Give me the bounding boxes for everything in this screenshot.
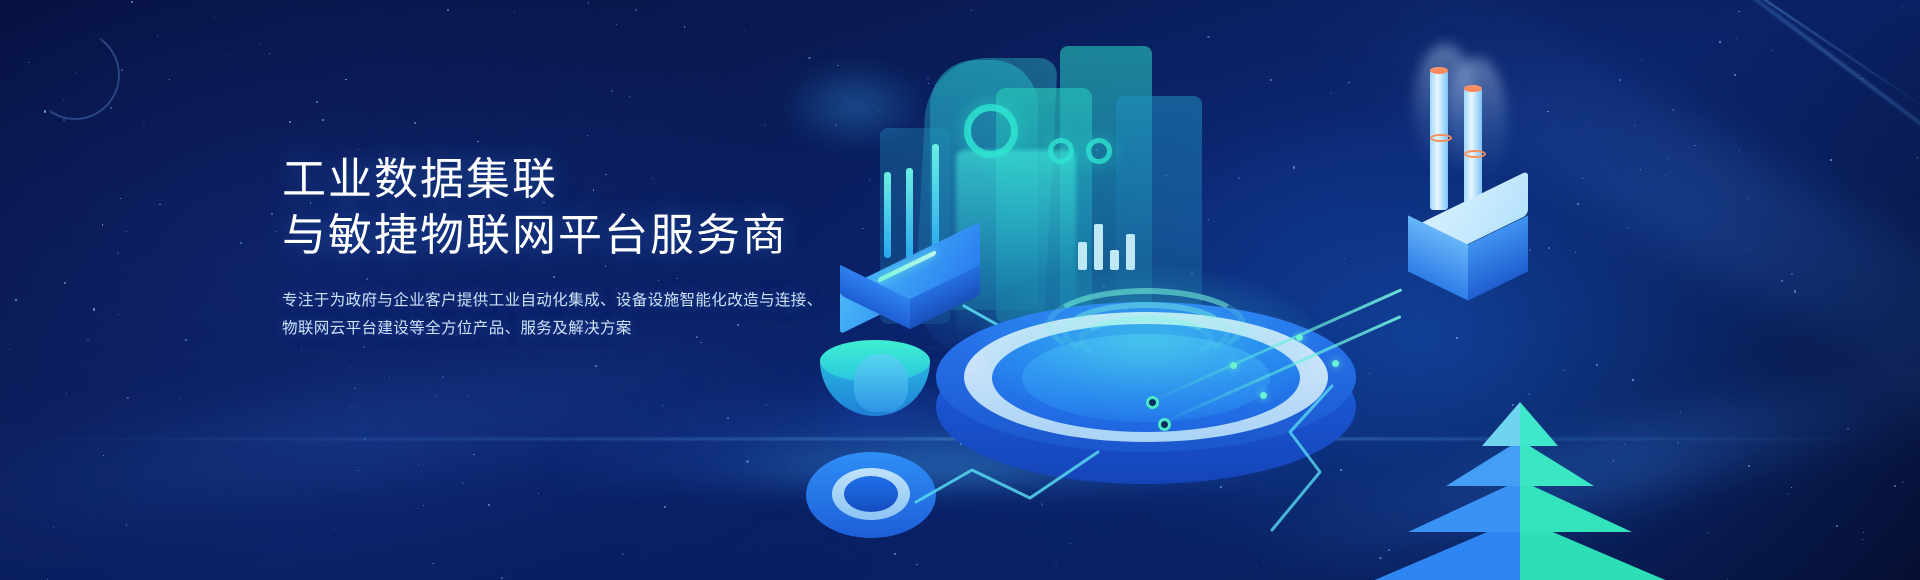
platform-arc-3 — [1078, 316, 1214, 364]
star — [93, 308, 95, 310]
star — [462, 492, 463, 493]
star — [514, 11, 515, 12]
base-ring-core — [844, 476, 898, 512]
data-beam-dot-2 — [1296, 334, 1303, 341]
star — [351, 406, 353, 408]
star — [110, 107, 112, 109]
star — [185, 339, 187, 341]
base-ring — [806, 452, 936, 538]
star — [120, 198, 121, 199]
star — [15, 299, 16, 300]
star — [358, 149, 359, 150]
star — [428, 384, 429, 385]
star — [269, 53, 270, 54]
data-beam-dot-3 — [1260, 392, 1267, 399]
crescent-arc-decor — [30, 30, 120, 120]
star — [180, 399, 181, 400]
star — [143, 125, 145, 127]
star — [468, 395, 469, 396]
data-beam-dot-4 — [1332, 360, 1339, 367]
star — [214, 17, 215, 18]
star — [351, 367, 352, 368]
smokestack-1-band — [1430, 134, 1452, 142]
star — [616, 24, 617, 25]
star — [102, 224, 104, 226]
router-glow — [780, 60, 930, 150]
layered-pyramid — [1370, 392, 1670, 580]
star — [29, 105, 30, 106]
star — [322, 119, 324, 121]
star — [389, 377, 390, 378]
star — [240, 242, 242, 244]
star — [301, 348, 302, 349]
smokestack-1-cap — [1430, 67, 1448, 74]
hero-text-block: 工业数据集联 与敏捷物联网平台服务商 专注于为政府与企业客户提供工业自动化集成、… — [282, 152, 922, 344]
router-antenna-3 — [932, 144, 939, 256]
star — [345, 79, 347, 81]
smokestack-2-band — [1464, 150, 1486, 158]
star — [473, 454, 475, 456]
hero-banner: 工业数据集联 与敏捷物联网平台服务商 专注于为政府与企业客户提供工业自动化集成、… — [0, 0, 1920, 580]
star — [622, 553, 624, 555]
star — [635, 9, 637, 11]
star — [126, 524, 128, 526]
tower-port-ring-icon — [964, 104, 1018, 158]
star — [289, 121, 291, 123]
cup-notch — [854, 354, 908, 412]
star — [47, 579, 48, 580]
pyramid-tier-2 — [1446, 440, 1594, 486]
headline-line-1: 工业数据集联 — [282, 152, 922, 208]
star — [509, 575, 511, 577]
star — [66, 393, 67, 394]
star — [157, 35, 158, 36]
star — [64, 282, 66, 284]
star — [226, 54, 227, 55]
storage-cup — [820, 340, 930, 430]
star — [63, 119, 65, 121]
star — [744, 30, 745, 31]
star — [462, 482, 464, 484]
star — [432, 563, 434, 565]
star — [589, 34, 591, 36]
star — [684, 26, 686, 28]
star — [275, 231, 277, 233]
star — [435, 395, 436, 396]
central-data-platform — [936, 286, 1356, 506]
star — [629, 96, 630, 97]
star — [126, 231, 127, 232]
star — [87, 339, 89, 341]
star — [447, 9, 449, 11]
star — [44, 110, 46, 112]
star — [538, 493, 539, 494]
star — [418, 464, 420, 466]
factory-smokestacks — [1408, 200, 1528, 310]
star — [334, 528, 335, 529]
data-beam-node-2 — [1158, 418, 1171, 431]
star — [354, 388, 356, 390]
star — [363, 346, 365, 348]
star — [169, 79, 170, 80]
star — [414, 122, 416, 124]
subtitle-line-1: 专注于为政府与企业客户提供工业自动化集成、设备设施智能化改造与连接、 — [282, 287, 922, 316]
star — [131, 1, 133, 3]
tower-port-ring-small2-icon — [1086, 138, 1112, 164]
star — [588, 2, 589, 3]
tower-port-ring-small-icon — [1048, 138, 1074, 164]
star — [501, 577, 502, 578]
star — [53, 527, 54, 528]
star — [316, 101, 318, 103]
star — [488, 504, 490, 506]
smokestack-2-cap — [1464, 85, 1482, 92]
star — [77, 251, 78, 252]
star — [118, 314, 119, 315]
star — [370, 130, 371, 131]
star — [395, 419, 396, 420]
star — [587, 135, 588, 136]
star — [611, 90, 613, 92]
star — [126, 397, 128, 399]
star — [423, 505, 424, 506]
tower-bar-chart-icon — [1078, 212, 1138, 270]
isometric-illustration — [760, 0, 1920, 580]
star — [477, 141, 478, 142]
star — [442, 376, 444, 378]
star — [9, 349, 11, 351]
data-beam-dot-1 — [1230, 362, 1237, 369]
star — [358, 470, 359, 471]
subtitle-line-2: 物联网云平台建设等全方位产品、服务及解决方案 — [282, 315, 922, 344]
star — [117, 252, 119, 254]
star — [28, 62, 29, 63]
star — [159, 204, 160, 205]
star — [103, 455, 104, 456]
star — [595, 365, 597, 367]
star — [259, 43, 260, 44]
star — [121, 69, 123, 71]
star — [181, 553, 182, 554]
star — [664, 506, 666, 508]
data-beam-node-1 — [1146, 396, 1159, 409]
star — [271, 213, 273, 215]
star — [254, 2, 255, 3]
pyramid-tier-3 — [1408, 480, 1632, 532]
headline-line-2: 与敏捷物联网平台服务商 — [282, 208, 922, 264]
pyramid-tier-1 — [1482, 402, 1558, 446]
